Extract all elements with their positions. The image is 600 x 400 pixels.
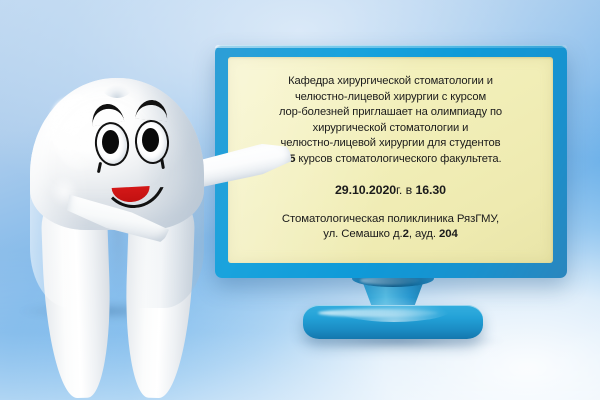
monitor-stand-base-highlight bbox=[318, 309, 438, 317]
announcement-line-5: челюстно-лицевой хирургии для студентов bbox=[281, 137, 501, 149]
announcement-line-4: хирургической стоматологии и bbox=[313, 122, 469, 134]
event-date: 29.10.2020 bbox=[335, 183, 396, 197]
address-line-1: Стоматологическая поликлиника РязГМУ, bbox=[282, 213, 499, 225]
announcement-line-2: челюстно-лицевой хирургии с курсом bbox=[295, 91, 486, 103]
address-mid: , ауд. bbox=[409, 228, 439, 240]
event-time: 16.30 bbox=[415, 183, 446, 197]
address-prefix: ул. Семашко д. bbox=[323, 228, 402, 240]
event-address: Стоматологическая поликлиника РязГМУ, ул… bbox=[241, 212, 540, 243]
tooth-mascot bbox=[22, 78, 212, 400]
announcement-line-1: Кафедра хирургической стоматологии и bbox=[288, 75, 493, 87]
pupil-right-icon bbox=[142, 128, 159, 152]
address-room: 204 bbox=[439, 228, 458, 240]
tooth-root-gap bbox=[100, 214, 136, 390]
tooth-cusp-notch bbox=[102, 76, 132, 98]
event-datetime: 29.10.2020г. в 16.30 bbox=[241, 182, 540, 198]
dental-olympiad-poster: Кафедра хирургической стоматологии и чел… bbox=[0, 0, 600, 400]
pupil-left-icon bbox=[102, 130, 119, 154]
announcement-line-3: лор-болезней приглашает на олимпиаду по bbox=[279, 106, 502, 118]
event-date-suffix: г. в bbox=[396, 183, 415, 197]
announcement-line-6-rest: курсов стоматологического факультета. bbox=[295, 153, 501, 165]
